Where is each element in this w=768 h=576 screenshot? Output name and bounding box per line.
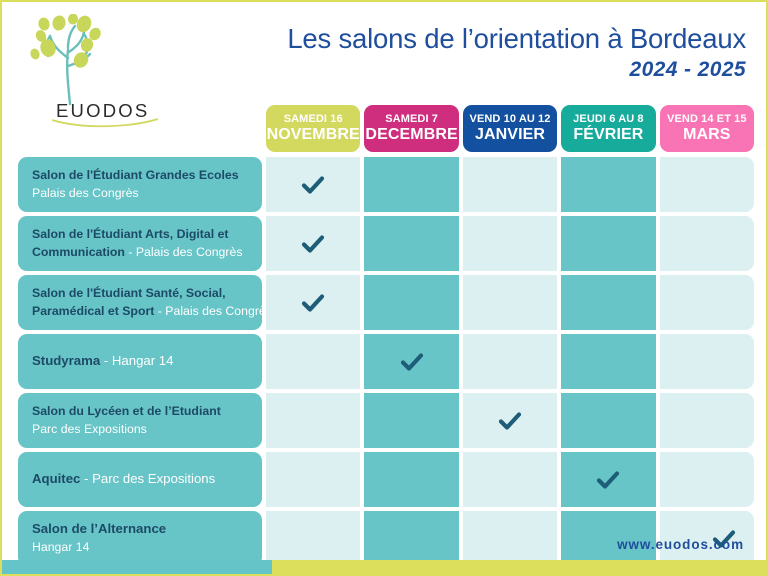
schedule-cell[interactable] (364, 511, 458, 566)
date-pill[interactable]: VEND 14 ET 15 MARS (660, 105, 754, 152)
checkmark-icon (300, 290, 326, 316)
cell-empty (561, 275, 655, 330)
cell-empty (364, 216, 458, 271)
cell-empty (463, 275, 557, 330)
schedule-cell[interactable] (364, 275, 458, 330)
table-row: Aquitec - Parc des Expositions (18, 452, 754, 507)
schedule-cell[interactable] (561, 393, 655, 448)
column-header-decembre[interactable]: SAMEDI 7 DECEMBRE (364, 105, 458, 152)
schedule-cell[interactable] (266, 452, 360, 507)
schedule-cell[interactable] (561, 334, 655, 389)
event-name: Studyrama (32, 353, 100, 368)
event-name: Aquitec (32, 471, 80, 486)
event-name: Salon du Lycéen et de l’Etudiant (32, 404, 221, 418)
schedule-cell[interactable] (266, 216, 360, 271)
date-pill-day: VEND 10 AU 12 (470, 114, 551, 125)
schedule-cell[interactable] (463, 511, 557, 566)
website-url[interactable]: www.euodos.com (617, 537, 744, 552)
table-row: Salon du Lycéen et de l’Etudiant Parc de… (18, 393, 754, 448)
event-label[interactable]: Salon de l'Étudiant Grandes Ecoles Palai… (18, 157, 262, 212)
cell-empty (660, 334, 754, 389)
schedule-cell[interactable] (364, 393, 458, 448)
schedule-cell[interactable] (561, 452, 655, 507)
event-label[interactable]: Salon de l'Étudiant Arts, Digital et Com… (18, 216, 262, 271)
header-corner-spacer (18, 105, 262, 152)
schedule-cell[interactable] (561, 275, 655, 330)
cell-empty (266, 511, 360, 566)
schedule-cell[interactable] (463, 334, 557, 389)
schedule-cell[interactable] (660, 393, 754, 448)
bottom-bar-teal-segment (2, 560, 272, 574)
table-row: Salon de l'Étudiant Arts, Digital et Com… (18, 216, 754, 271)
page-title: Les salons de l’orientation à Bordeaux (287, 24, 746, 55)
cell-checked (266, 275, 360, 330)
cell-empty (364, 393, 458, 448)
date-pill-day: JEUDI 6 AU 8 (573, 114, 643, 125)
date-pill-month: NOVEMBRE (267, 127, 360, 143)
event-name: Paramédical et Sport (32, 304, 154, 318)
checkmark-icon (399, 349, 425, 375)
schedule-cell[interactable] (266, 511, 360, 566)
cell-empty (660, 452, 754, 507)
bottom-accent-bar (2, 560, 768, 574)
title-block: Les salons de l’orientation à Bordeaux 2… (287, 24, 746, 82)
cell-empty (561, 393, 655, 448)
event-name: Salon de l'Étudiant Arts, Digital et (32, 227, 229, 241)
cell-empty (266, 334, 360, 389)
checkmark-icon (300, 172, 326, 198)
cell-empty (266, 393, 360, 448)
cell-empty (463, 216, 557, 271)
cell-empty (364, 275, 458, 330)
event-label[interactable]: Salon du Lycéen et de l’Etudiant Parc de… (18, 393, 262, 448)
schedule-cell[interactable] (266, 157, 360, 212)
cell-empty (463, 334, 557, 389)
tree-icon (26, 14, 130, 106)
event-line: Studyrama - Hangar 14 (32, 352, 252, 371)
date-pill-month: JANVIER (475, 127, 545, 143)
cell-empty (463, 157, 557, 212)
schedule-cell[interactable] (463, 393, 557, 448)
schedule-cell[interactable] (364, 216, 458, 271)
event-line: Salon de l'Étudiant Santé, Social, (32, 285, 252, 302)
poster-header: EUODOS Les salons de l’orientation à Bor… (2, 2, 768, 102)
cell-checked (561, 452, 655, 507)
schedule-cell[interactable] (660, 334, 754, 389)
cell-empty (660, 275, 754, 330)
table-row: Salon de l'Étudiant Grandes Ecoles Palai… (18, 157, 754, 212)
event-venue: Parc des Expositions (32, 422, 147, 436)
table-row: Salon de l'Étudiant Santé, Social, Param… (18, 275, 754, 330)
cell-empty (364, 157, 458, 212)
column-header-mars[interactable]: VEND 14 ET 15 MARS (660, 105, 754, 152)
cell-checked (463, 393, 557, 448)
event-line: Salon de l'Étudiant Grandes Ecoles (32, 167, 252, 184)
schedule-cell[interactable] (364, 334, 458, 389)
event-venue: Hangar 14 (32, 540, 89, 554)
schedule-cell[interactable] (660, 452, 754, 507)
schedule-cell[interactable] (266, 393, 360, 448)
table-header-row: SAMEDI 16 NOVEMBRE SAMEDI 7 DECEMBRE VEN… (18, 105, 754, 152)
cell-empty (463, 452, 557, 507)
event-label[interactable]: Aquitec - Parc des Expositions (18, 452, 262, 507)
bottom-bar-lime-segment (272, 560, 768, 574)
date-pill-month: FÉVRIER (573, 127, 643, 143)
event-line: Aquitec - Parc des Expositions (32, 470, 252, 489)
schedule-cell[interactable] (660, 216, 754, 271)
cell-empty (561, 157, 655, 212)
event-line: Palais des Congrès (32, 185, 252, 202)
cell-empty (660, 393, 754, 448)
date-pill[interactable]: SAMEDI 16 NOVEMBRE (266, 105, 360, 152)
schedule-cell[interactable] (463, 452, 557, 507)
date-pill[interactable]: SAMEDI 7 DECEMBRE (364, 105, 458, 152)
cell-empty (561, 216, 655, 271)
checkmark-icon (595, 467, 621, 493)
date-pill-day: VEND 14 ET 15 (667, 114, 747, 125)
salons-schedule-table: SAMEDI 16 NOVEMBRE SAMEDI 7 DECEMBRE VEN… (18, 105, 754, 570)
event-label[interactable]: Salon de l’Alternance Hangar 14 (18, 511, 262, 566)
event-line: Paramédical et Sport - Palais des Congrè… (32, 303, 252, 320)
schedule-cell[interactable] (364, 452, 458, 507)
event-venue: - Palais des Congrès (154, 304, 272, 318)
date-pill[interactable]: VEND 10 AU 12 JANVIER (463, 105, 557, 152)
schedule-cell[interactable] (660, 275, 754, 330)
schedule-cell[interactable] (266, 275, 360, 330)
event-venue: - Parc des Expositions (80, 471, 215, 486)
date-pill-month: DECEMBRE (365, 127, 457, 143)
cell-checked (266, 216, 360, 271)
cell-empty (266, 452, 360, 507)
event-label[interactable]: Salon de l'Étudiant Santé, Social, Param… (18, 275, 262, 330)
event-venue: - Hangar 14 (100, 353, 173, 368)
event-name: Salon de l'Étudiant Grandes Ecoles (32, 168, 239, 182)
event-venue: Palais des Congrès (32, 186, 139, 200)
cell-checked (266, 157, 360, 212)
event-line: Salon de l'Étudiant Arts, Digital et (32, 226, 252, 243)
schedule-cell[interactable] (266, 334, 360, 389)
checkmark-icon (300, 231, 326, 257)
event-line: Hangar 14 (32, 539, 252, 556)
event-line: Salon du Lycéen et de l’Etudiant (32, 403, 252, 420)
cell-checked (364, 334, 458, 389)
schedule-cell[interactable] (561, 216, 655, 271)
event-line: Parc des Expositions (32, 421, 252, 438)
poster-canvas: EUODOS Les salons de l’orientation à Bor… (0, 0, 768, 576)
event-line: Salon de l’Alternance (32, 520, 252, 539)
cell-empty (364, 452, 458, 507)
cell-empty (364, 511, 458, 566)
date-pill-day: SAMEDI 7 (385, 114, 438, 125)
date-pill[interactable]: JEUDI 6 AU 8 FÉVRIER (561, 105, 655, 152)
cell-empty (561, 334, 655, 389)
schedule-cell[interactable] (463, 275, 557, 330)
event-venue: - Palais des Congrès (125, 245, 243, 259)
cell-empty (660, 216, 754, 271)
schedule-cell[interactable] (660, 157, 754, 212)
event-label[interactable]: Studyrama - Hangar 14 (18, 334, 262, 389)
date-pill-day: SAMEDI 16 (284, 114, 343, 125)
page-subtitle: 2024 - 2025 (287, 58, 746, 82)
event-line: Communication - Palais des Congrès (32, 244, 252, 261)
schedule-cell[interactable] (463, 216, 557, 271)
date-pill-month: MARS (683, 127, 731, 143)
schedule-cell[interactable] (364, 157, 458, 212)
column-header-novembre[interactable]: SAMEDI 16 NOVEMBRE (266, 105, 360, 152)
checkmark-icon (497, 408, 523, 434)
column-header-janvier[interactable]: VEND 10 AU 12 JANVIER (463, 105, 557, 152)
cell-empty (463, 511, 557, 566)
table-row: Studyrama - Hangar 14 (18, 334, 754, 389)
schedule-cell[interactable] (463, 157, 557, 212)
event-name: Communication (32, 245, 125, 259)
event-name: Salon de l'Étudiant Santé, Social, (32, 286, 226, 300)
schedule-cell[interactable] (561, 157, 655, 212)
event-name: Salon de l’Alternance (32, 521, 166, 536)
cell-empty (660, 157, 754, 212)
column-header-fevrier[interactable]: JEUDI 6 AU 8 FÉVRIER (561, 105, 655, 152)
